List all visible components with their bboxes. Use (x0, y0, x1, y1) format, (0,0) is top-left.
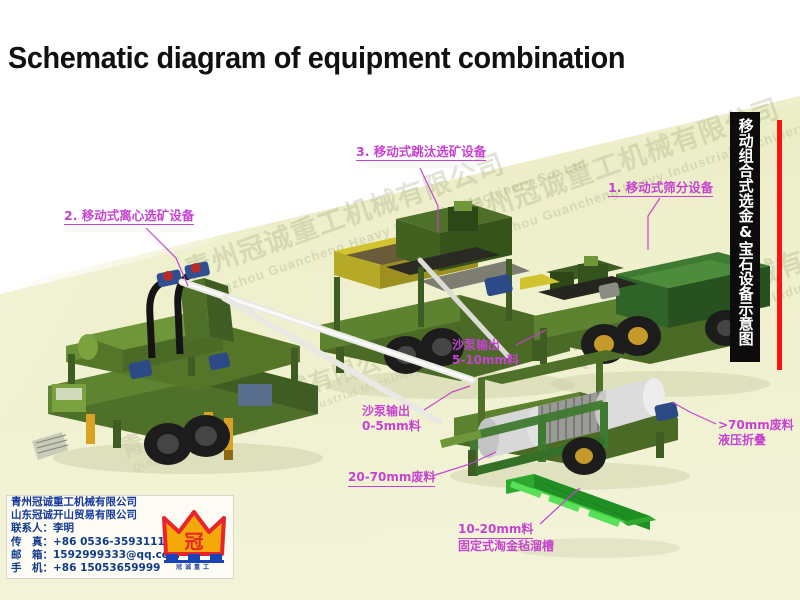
logo-wordmark: 冠诚重工 (160, 562, 228, 571)
label-text: 20-70mm废料 (348, 470, 435, 487)
label-sluice-10-20mm: 10-20mm料 固定式淘金毡溜槽 (458, 522, 554, 553)
label-text: 10-20mm料 (458, 522, 533, 539)
label-mobile-jig-concentrator: 3. 移动式跳汰选矿设备 (356, 144, 486, 161)
label-text: 2. 移动式离心选矿设备 (64, 208, 194, 225)
label-text: 5-10mm料 (452, 353, 519, 368)
label-text: 沙泵输出 (452, 338, 519, 353)
label-text: 3. 移动式跳汰选矿设备 (356, 144, 486, 161)
page-title: Schematic diagram of equipment combinati… (8, 40, 625, 76)
red-accent-bar (777, 120, 782, 370)
logo-mark-text: 冠 (184, 531, 203, 553)
label-text: 沙泵输出 (362, 404, 421, 419)
label-text: >70mm废料 (718, 418, 794, 433)
label-text: 液压折叠 (718, 433, 794, 448)
company-logo: 冠 冠诚重工 (160, 508, 228, 570)
label-mobile-centrifugal-concentrator: 2. 移动式离心选矿设备 (64, 208, 194, 225)
label-waste-20-70mm: 20-70mm废料 (348, 470, 435, 487)
material-transfer-pipes (120, 240, 680, 470)
label-text: 1. 移动式筛分设备 (608, 180, 713, 197)
schematic-canvas: 青州冠诚重工机械有限公司 Qingzhou Guancheng Heavy In… (0, 0, 800, 600)
crown-icon: 冠 (160, 508, 228, 564)
vertical-banner-text: 移动组合式选金&宝石设备示意图 (737, 118, 752, 346)
label-pump-output-0-5mm: 沙泵输出 0-5mm料 (362, 404, 421, 433)
vertical-banner: 移动组合式选金&宝石设备示意图 (730, 112, 760, 362)
label-text: 固定式淘金毡溜槽 (458, 539, 554, 554)
label-text: 0-5mm料 (362, 419, 421, 434)
label-mobile-screening-plant: 1. 移动式筛分设备 (608, 180, 713, 197)
label-pump-output-5-10mm: 沙泵输出 5-10mm料 (452, 338, 519, 367)
label-waste-over-70mm: >70mm废料 液压折叠 (718, 418, 794, 447)
